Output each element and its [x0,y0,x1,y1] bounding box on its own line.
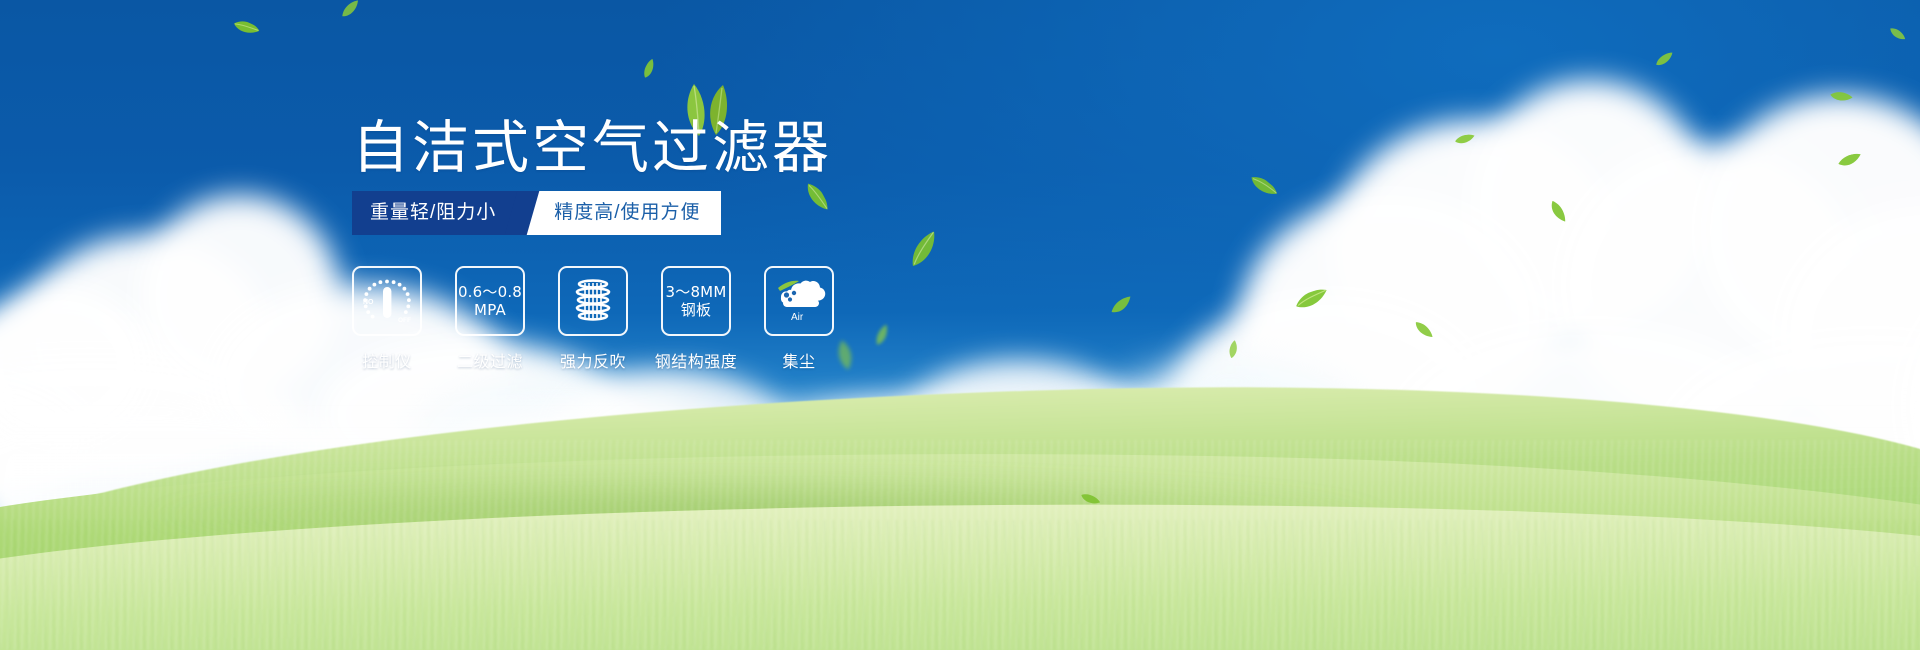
feature-tag-band: 重量轻/阻力小 精度高/使用方便 [352,191,721,235]
feature-icon-box: Air [764,266,834,336]
feature-label: 二级过滤 [457,348,523,372]
feature-icon-box: 0.6～0.8 MPA [455,266,525,336]
steel-plate-text: 钢板 [681,301,711,319]
air-cloud-icon: Air [771,275,827,327]
pressure-unit-text: MPA [474,301,506,319]
pressure-range-text: 0.6～0.8 [458,283,522,301]
feature-item-strong-backblow[interactable]: 强力反吹 [558,266,628,372]
tag-precision-easyuse: 精度高/使用方便 [528,191,720,235]
feature-item-controller[interactable]: NO OFF 控制仪 [352,266,422,372]
feature-item-two-stage-filter[interactable]: 0.6～0.8 MPA 二级过滤 [455,266,525,372]
page-title: 自洁式空气过滤器 [352,116,832,180]
feature-label: 控制仪 [362,348,412,372]
feature-item-steel-strength[interactable]: 3～8MM 钢板 钢结构强度 [661,266,731,372]
svg-text:OFF: OFF [398,317,411,324]
feature-label: 钢结构强度 [655,348,738,372]
svg-text:Air: Air [791,312,804,323]
product-banner: 自洁式空气过滤器 重量轻/阻力小 精度高/使用方便 [0,0,1920,650]
banner-content: 自洁式空气过滤器 重量轻/阻力小 精度高/使用方便 [0,0,1920,650]
feature-icon-box [558,266,628,336]
feature-icon-box: 3～8MM 钢板 [661,266,731,336]
svg-text:NO: NO [363,299,374,306]
feature-icon-row: NO OFF 控制仪 0.6～0.8 MPA 二级过滤 [352,266,834,372]
feature-label: 集尘 [782,348,815,372]
tag-lightweight-lowresistance: 重量轻/阻力小 [352,191,522,235]
feature-icon-box: NO OFF [352,266,422,336]
airflow-coil-icon [568,277,618,325]
control-dial-icon: NO OFF [359,274,415,328]
feature-item-dust-collection[interactable]: Air 集尘 [764,266,834,372]
steel-thickness-text: 3～8MM [666,283,727,301]
feature-label: 强力反吹 [560,348,626,372]
